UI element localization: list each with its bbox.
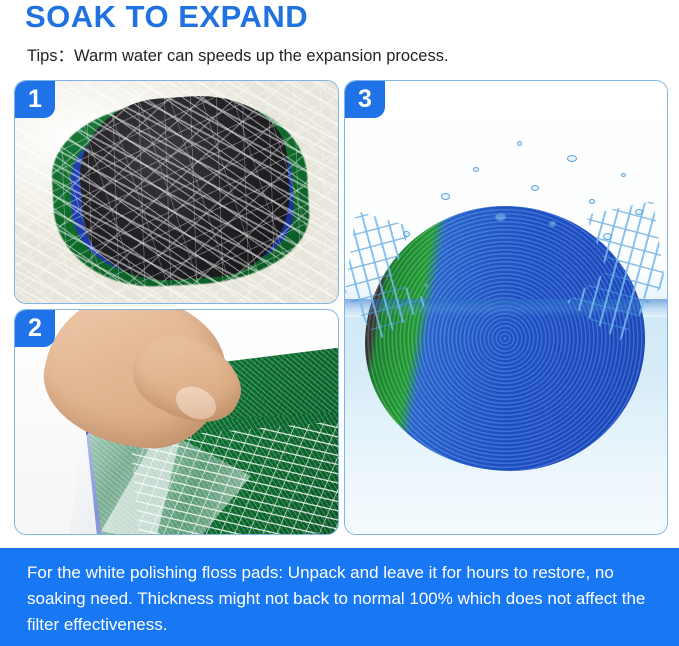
tips-line: Tips：Warm water can speeds up the expans… xyxy=(27,44,449,68)
soaking-image xyxy=(345,81,667,534)
step-badge-2: 2 xyxy=(15,310,55,347)
water-droplets xyxy=(345,81,667,534)
step-panel-3: 3 xyxy=(344,80,668,535)
footer-note: For the white polishing floss pads: Unpa… xyxy=(27,560,651,638)
footer-banner: For the white polishing floss pads: Unpa… xyxy=(0,548,679,646)
step-badge-3: 3 xyxy=(345,81,385,118)
peeling-film-image xyxy=(15,310,338,534)
step-badge-1: 1 xyxy=(15,81,55,118)
vacuum-sealed-pad-image xyxy=(15,81,338,303)
infographic-page: SOAK TO EXPAND Tips：Warm water can speed… xyxy=(0,0,679,646)
step-panel-1: 1 xyxy=(14,80,339,304)
plastic-crinkle-highlights xyxy=(15,81,338,303)
page-title: SOAK TO EXPAND xyxy=(25,0,308,35)
step-panel-2: 2 xyxy=(14,309,339,535)
